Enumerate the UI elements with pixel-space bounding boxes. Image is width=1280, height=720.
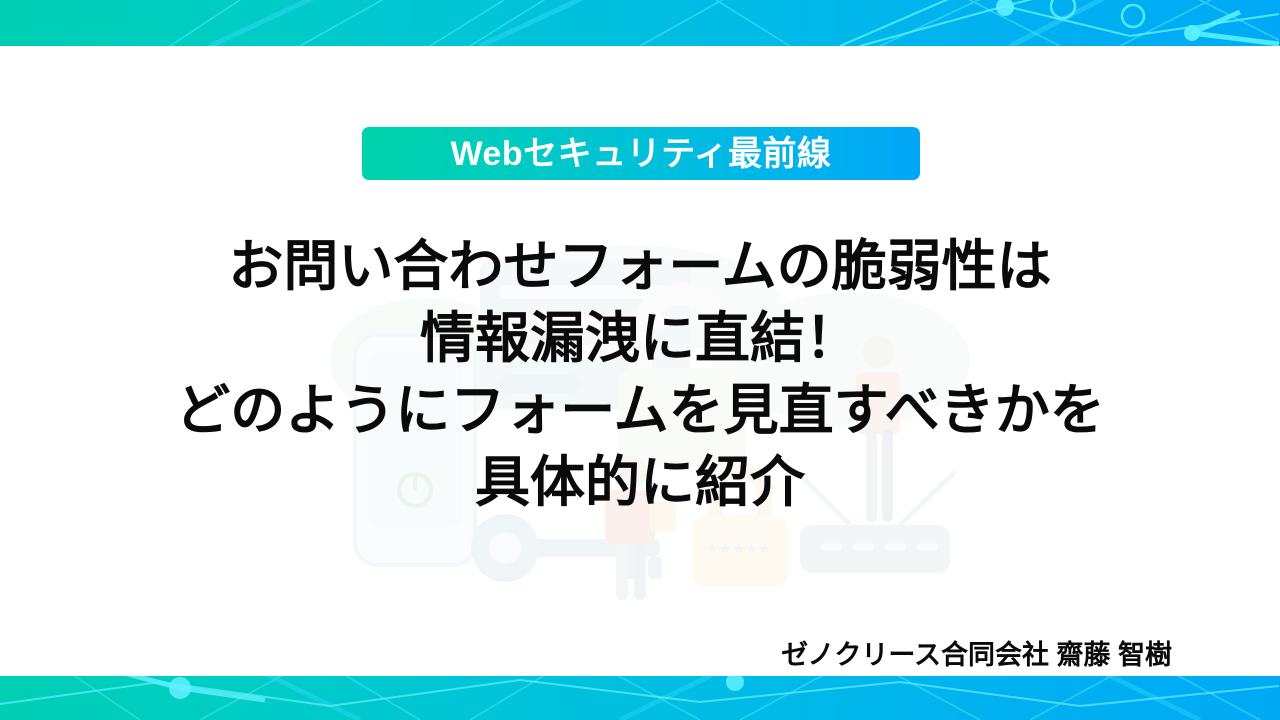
bottom-bar-circuit-pattern	[0, 676, 1280, 720]
title-line-1: お問い合わせフォームの脆弱性は	[0, 230, 1280, 302]
top-gradient-bar	[0, 0, 1280, 46]
slide-title: お問い合わせフォームの脆弱性は 情報漏洩に直結！ どのようにフォームを見直すべき…	[0, 230, 1280, 518]
top-bar-circuit-pattern	[0, 0, 1280, 46]
title-line-3: どのようにフォームを見直すべきかを	[0, 374, 1280, 446]
title-line-2: 情報漏洩に直結！	[0, 302, 1280, 374]
section-badge: Webセキュリティ最前線	[362, 127, 920, 180]
presentation-slide: *****	[0, 0, 1280, 720]
svg-text:*****: *****	[707, 538, 773, 568]
bottom-gradient-bar	[0, 676, 1280, 720]
title-line-4: 具体的に紹介	[0, 446, 1280, 518]
section-badge-label: Webセキュリティ最前線	[450, 137, 831, 171]
presenter-attribution: ゼノクリース合同会社 齋藤 智樹	[781, 639, 1172, 671]
